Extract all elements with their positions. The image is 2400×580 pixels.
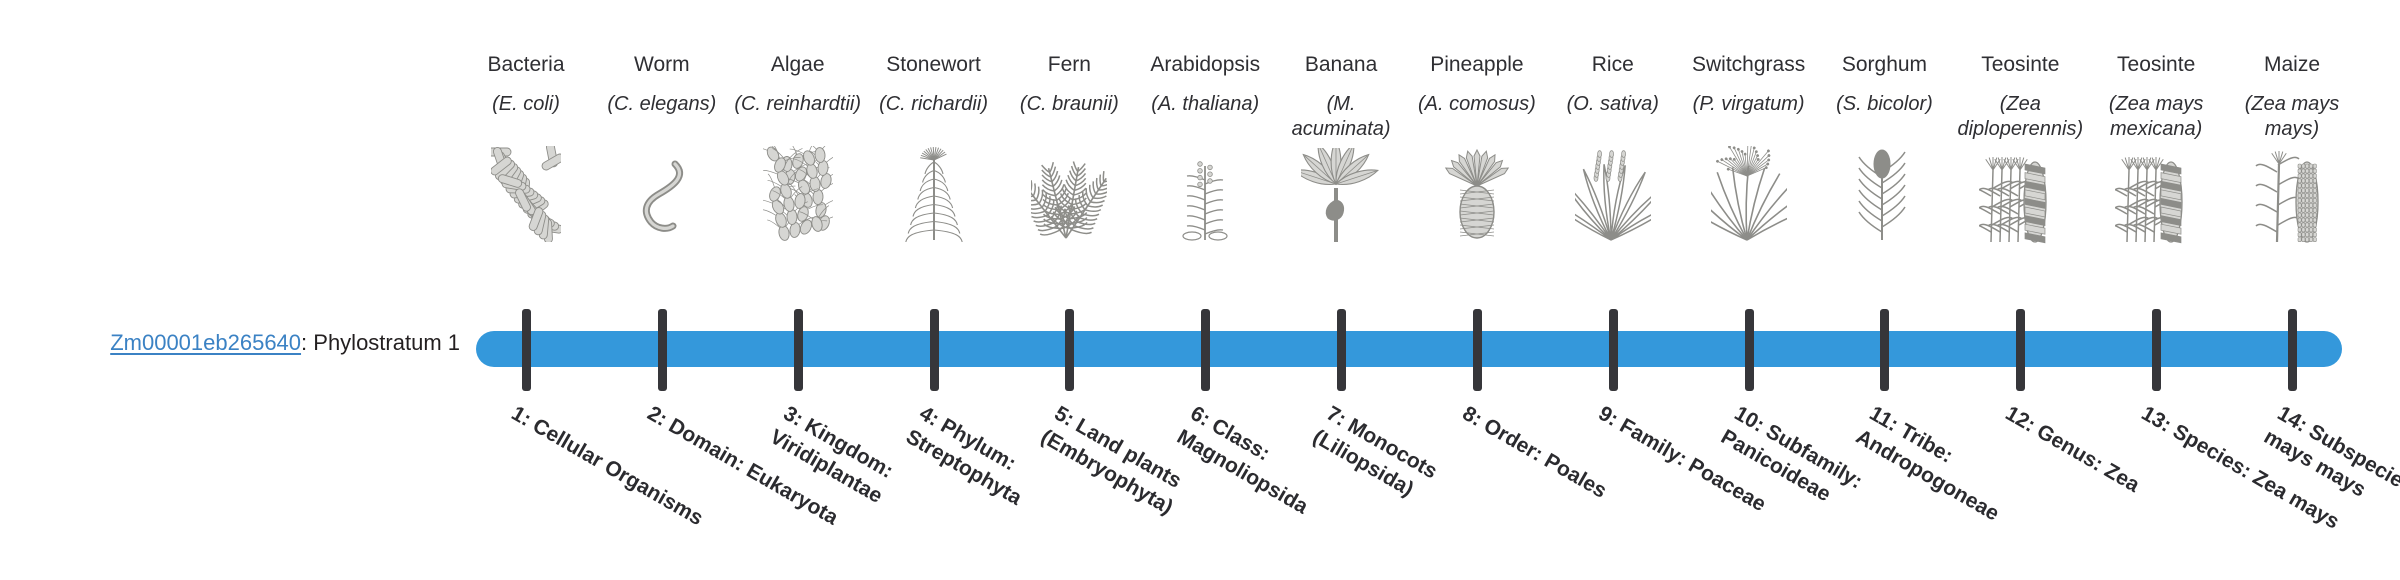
phylostratigraphy-figure: Zm00001eb265640: Phylostratum 1 Bacteria… [0,0,2400,580]
maize-plant-ear-icon [2228,146,2356,244]
teosinte-plant-ear-icon [2092,146,2220,244]
arabidopsis-icon [1141,144,1269,242]
species-common-name: Stonewort [870,52,998,78]
species-column-11: Sorghum(S. bicolor) [1820,52,1948,242]
teosinte-plant-ear-icon [1956,146,2084,244]
species-column-5: Fern(C. braunii) [1005,52,1133,242]
species-common-name: Teosinte [1956,52,2084,78]
phylostratum-tick-4[interactable] [930,309,939,391]
phylostratum-value: Phylostratum 1 [313,330,460,355]
species-common-name: Rice [1549,52,1677,78]
gene-label-separator: : [301,330,313,355]
species-column-10: Switchgrass(P. virgatum) [1685,52,1813,242]
nematode-worm-icon [598,144,726,242]
stonewort-icon [870,144,998,242]
species-common-name: Arabidopsis [1141,52,1269,78]
species-column-7: Banana(M. acuminata) [1277,52,1405,244]
species-common-name: Worm [598,52,726,78]
species-latin-name: (A. thaliana) [1141,92,1269,140]
species-column-9: Rice(O. sativa) [1549,52,1677,242]
phylostratum-tick-13[interactable] [2152,309,2161,391]
species-latin-name: (P. virgatum) [1685,92,1813,140]
sorghum-icon [1820,144,1948,242]
species-column-3: Algae(C. reinhardtii) [734,52,862,242]
phylostratum-tick-3[interactable] [794,309,803,391]
phylostratum-tick-10[interactable] [1745,309,1754,391]
species-common-name: Banana [1277,52,1405,78]
species-column-8: Pineapple(A. comosus) [1413,52,1541,242]
rice-plant-icon [1549,144,1677,242]
species-common-name: Pineapple [1413,52,1541,78]
species-column-4: Stonewort(C. richardii) [870,52,998,242]
species-column-6: Arabidopsis(A. thaliana) [1141,52,1269,242]
species-column-1: Bacteria(E. coli) [462,52,590,242]
species-common-name: Maize [2228,52,2356,78]
phylostratum-track: Bacteria(E. coli)Worm(C. elegans)Algae(C… [476,0,2342,580]
phylostratum-bar[interactable] [476,331,2342,367]
species-latin-name: (E. coli) [462,92,590,140]
phylostratum-tick-5[interactable] [1065,309,1074,391]
species-column-12: Teosinte(Zea diploperennis) [1956,52,2084,244]
species-column-13: Teosinte(Zea mays mexicana) [2092,52,2220,244]
species-common-name: Switchgrass [1685,52,1813,78]
species-latin-name: (Zea diploperennis) [1956,92,2084,142]
species-common-name: Algae [734,52,862,78]
phylostratum-tick-9[interactable] [1609,309,1618,391]
gene-id-link[interactable]: Zm00001eb265640 [110,330,301,355]
species-latin-name: (C. braunii) [1005,92,1133,140]
gene-phylostratum-label: Zm00001eb265640: Phylostratum 1 [40,330,460,356]
fern-icon [1005,144,1133,242]
species-latin-name: (C. elegans) [598,92,726,140]
species-column-2: Worm(C. elegans) [598,52,726,242]
species-common-name: Teosinte [2092,52,2220,78]
species-common-name: Sorghum [1820,52,1948,78]
species-latin-name: (O. sativa) [1549,92,1677,140]
species-latin-name: (C. reinhardtii) [734,92,862,140]
species-column-14: Maize(Zea mays mays) [2228,52,2356,244]
banana-plant-icon [1277,146,1405,244]
phylostratum-tick-8[interactable] [1473,309,1482,391]
pineapple-icon [1413,144,1541,242]
switchgrass-icon [1685,144,1813,242]
species-latin-name: (Zea mays mexicana) [2092,92,2220,142]
phylostratum-tick-12[interactable] [2016,309,2025,391]
species-common-name: Fern [1005,52,1133,78]
phylostratum-tick-2[interactable] [658,309,667,391]
phylostratum-tick-1[interactable] [522,309,531,391]
phylostratum-tick-6[interactable] [1201,309,1210,391]
algae-cells-icon [734,144,862,242]
phylostratum-tick-14[interactable] [2288,309,2297,391]
species-latin-name: (A. comosus) [1413,92,1541,140]
species-latin-name: (C. richardii) [870,92,998,140]
bacteria-rods-icon [462,144,590,242]
species-latin-name: (M. acuminata) [1277,92,1405,142]
phylostratum-tick-7[interactable] [1337,309,1346,391]
species-latin-name: (Zea mays mays) [2228,92,2356,142]
phylostratum-tick-11[interactable] [1880,309,1889,391]
species-common-name: Bacteria [462,52,590,78]
species-latin-name: (S. bicolor) [1820,92,1948,140]
